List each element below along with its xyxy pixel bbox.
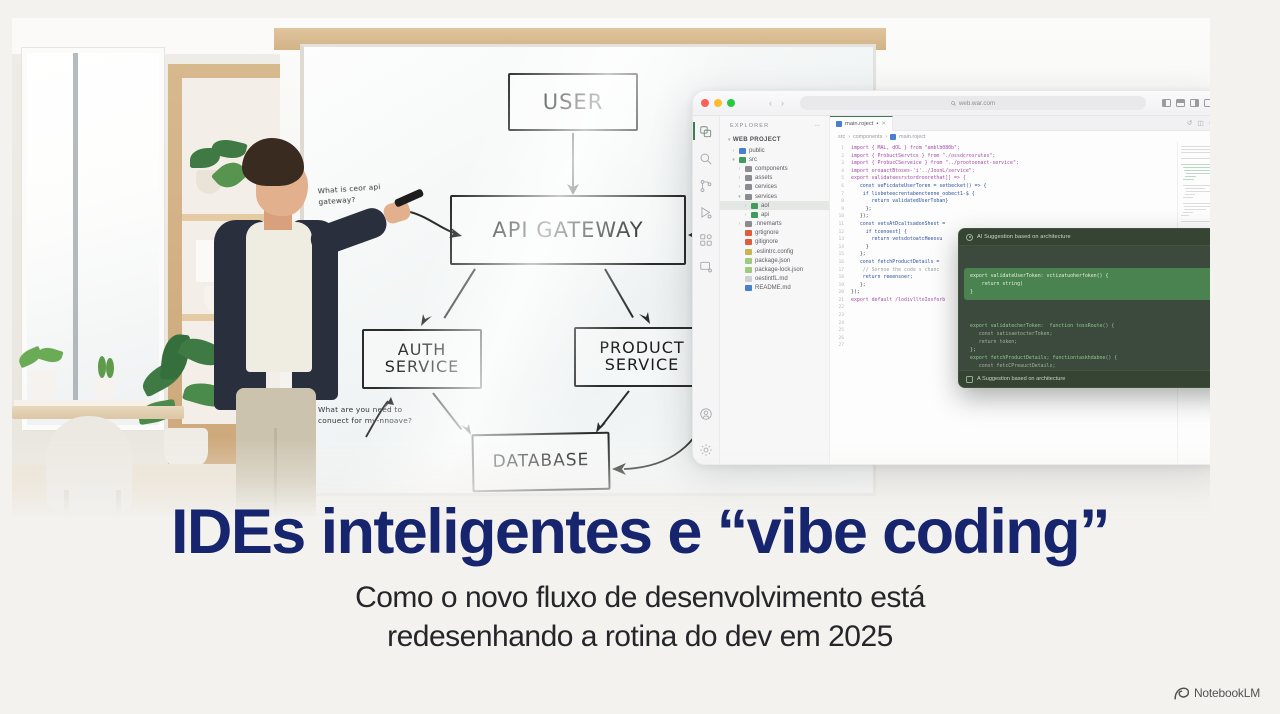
maximize-window-dot[interactable] <box>727 99 735 107</box>
minimap-line <box>1181 221 1210 222</box>
line-number: 12 <box>830 229 844 237</box>
ai-suggestion-title: AI Suggestion based on architecture <box>977 234 1071 240</box>
remote-icon[interactable] <box>699 260 713 274</box>
close-icon[interactable]: ✕ <box>881 121 886 127</box>
breadcrumb-item[interactable]: main.roject <box>899 134 925 140</box>
line-number: 19 <box>830 282 844 290</box>
line-number: 2 <box>830 153 844 161</box>
checkbox-icon[interactable] <box>966 376 973 383</box>
minimap-line <box>1183 179 1194 180</box>
file-tree-row[interactable]: ›components <box>720 164 829 173</box>
chevron-right-icon: › <box>885 134 887 140</box>
nav-arrows[interactable]: ‹ › <box>769 99 784 108</box>
close-window-dot[interactable] <box>701 99 709 107</box>
folder-icon <box>751 212 758 218</box>
file-tree-label: grtignore <box>755 230 779 236</box>
editor-tab[interactable]: main.roject • ✕ <box>830 116 893 131</box>
active-indicator <box>693 122 695 140</box>
presenter-person <box>208 138 358 518</box>
account-icon[interactable] <box>699 407 713 421</box>
line-number: 3 <box>830 160 844 168</box>
breadcrumb[interactable]: src › components › main.roject <box>830 131 1210 142</box>
line-number: 5 <box>830 175 844 183</box>
explorer-icon[interactable] <box>699 125 713 139</box>
ai-suggestion-footer-label: A Suggestion based on architecture <box>977 376 1065 382</box>
tab-label: main.roject <box>845 121 873 127</box>
folder-icon <box>745 175 752 181</box>
ai-code-line: export fetchProductDetails; functiontask… <box>970 354 1210 362</box>
line-number: 27 <box>830 342 844 350</box>
file-tree-label: oestintfL.md <box>755 276 788 282</box>
plant-leaf <box>106 358 114 378</box>
file-tree-label: .nnemarts <box>755 221 782 227</box>
minimap-line <box>1184 206 1210 207</box>
line-number: 9 <box>830 206 844 214</box>
chevron-down-icon[interactable]: ▾ <box>728 137 731 143</box>
browser-chrome: ‹ › web.war.com <box>693 91 1210 116</box>
line-number: 20 <box>830 289 844 297</box>
text-block: IDEs inteligentes e “vibe coding” Como o… <box>0 500 1280 657</box>
chevron-right-icon[interactable]: › <box>743 203 748 209</box>
line-number: 14 <box>830 244 844 252</box>
file-tree[interactable]: ›public▾src›components›assets›cervices▾s… <box>720 146 829 293</box>
minimap-line <box>1183 212 1193 213</box>
minimap-line <box>1185 194 1196 195</box>
line-number: 1 <box>830 145 844 153</box>
source-control-icon[interactable] <box>699 179 713 193</box>
minimap-line <box>1181 152 1210 153</box>
chevron-right-icon[interactable]: › <box>737 184 742 190</box>
chevron-down-icon[interactable]: ▾ <box>731 157 736 163</box>
chevron-down-icon[interactable]: ▾ <box>737 194 742 200</box>
minimap-line <box>1181 215 1189 216</box>
shirt <box>246 222 312 372</box>
file-icon <box>745 267 752 273</box>
settings-gear-icon[interactable] <box>699 443 713 457</box>
line-number: 4 <box>830 168 844 176</box>
editor-tab-tools[interactable]: ↺ ◫ ⋯ <box>1187 119 1210 127</box>
editor-tab-bar[interactable]: main.roject • ✕ ↺ ◫ ⋯ <box>830 116 1210 131</box>
line-number: 11 <box>830 221 844 229</box>
code-line: import { MAL, dOL } from "emblb080b"; <box>851 145 1177 153</box>
ai-code-line: } <box>970 288 1210 296</box>
line-number: 7 <box>830 191 844 199</box>
file-tree-label: .eslintrc.config <box>755 249 793 255</box>
file-tree-label: public <box>749 148 765 154</box>
minimap-line <box>1181 146 1210 147</box>
code-line: import { ProbucCServeice } from "../proo… <box>851 160 1177 168</box>
ai-code-line: export validateUserToken: vctizatuoherfo… <box>970 272 1210 280</box>
explorer-root-label[interactable]: ▾ WEB PROJECT <box>720 135 829 146</box>
minimap-line <box>1181 164 1210 165</box>
file-tree-label: gitignore <box>755 239 778 245</box>
file-tree-label: package.json <box>755 258 790 264</box>
split-editor-icon[interactable]: ↺ <box>1187 119 1192 127</box>
file-tree-row[interactable]: oestintfL.md <box>720 275 829 284</box>
panel-bottom-icon[interactable] <box>1176 99 1185 107</box>
file-tree-label: cervices <box>755 184 777 190</box>
panel-right-icon[interactable] <box>1190 99 1199 107</box>
file-tree-row[interactable]: package.json <box>720 256 829 265</box>
minimap-line <box>1183 197 1193 198</box>
ai-code-line: const fetcCPreauctDetails; <box>970 362 1210 370</box>
watermark-label: NotebookLM <box>1194 686 1260 700</box>
file-icon <box>745 230 752 236</box>
line-number: 17 <box>830 267 844 275</box>
chevron-right-icon: › <box>848 134 850 140</box>
ai-code-line: return string) <box>970 280 1210 288</box>
url-text: web.war.com <box>959 100 995 107</box>
file-icon <box>745 285 752 291</box>
line-number: 24 <box>830 320 844 328</box>
line-number: 13 <box>830 236 844 244</box>
file-tree-row[interactable]: ▾services <box>720 192 829 201</box>
ellipsis-icon[interactable]: ⋯ <box>814 123 821 129</box>
minimize-window-dot[interactable] <box>714 99 722 107</box>
file-tree-row[interactable]: ▾src <box>720 155 829 164</box>
code-line: if lisbeteecrentabenctenne_oobect1-$ { <box>851 191 1177 199</box>
minimap-line <box>1183 203 1210 204</box>
tab-dirty-marker: • <box>876 121 878 127</box>
notebooklm-watermark: NotebookLM <box>1174 686 1260 700</box>
file-tree-label: components <box>755 166 788 172</box>
ai-suggestion-panel[interactable]: AI Suggestion based on architecture expo… <box>958 228 1210 388</box>
line-number-gutter: 1234567891011121314151617181920212223242… <box>830 142 847 465</box>
desk-plant-pot <box>30 370 56 400</box>
ai-code-line: const satisaetocterToken; <box>970 330 1210 338</box>
line-number: 15 <box>830 251 844 259</box>
code-line: export validateesrstordroorethat]] => { <box>851 175 1177 183</box>
ai-sparkle-icon <box>966 234 973 241</box>
root-folder-name: WEB PROJECT <box>733 136 781 143</box>
back-arrow-icon[interactable]: ‹ <box>769 99 772 108</box>
file-tree-label: aol <box>761 203 769 209</box>
file-tree-row[interactable]: .eslintrc.config <box>720 247 829 256</box>
file-tree-row[interactable]: README.md <box>720 284 829 293</box>
ai-suggestion-body: export validateUserToken: vctizatuoherfo… <box>959 246 1210 388</box>
line-number: 26 <box>830 335 844 343</box>
file-tree-row[interactable]: ›.nnemarts <box>720 220 829 229</box>
minimap-line <box>1183 167 1210 168</box>
floor-plant-pot <box>164 428 208 468</box>
file-icon <box>745 249 752 255</box>
search-icon[interactable] <box>699 152 713 166</box>
subtitle-line-1: Como o novo fluxo de desenvolvimento est… <box>0 578 1280 618</box>
more-actions-icon[interactable]: ⋯ <box>1209 119 1211 127</box>
folder-icon <box>751 203 758 209</box>
breadcrumb-item[interactable]: src <box>838 134 845 140</box>
traffic-lights[interactable] <box>701 99 735 107</box>
layout-icon[interactable]: ◫ <box>1197 119 1203 127</box>
ai-code-line: return token; <box>970 338 1210 346</box>
file-tree-row[interactable]: ›public <box>720 146 829 155</box>
code-line: }; <box>851 206 1177 214</box>
page-subtitle: Como o novo fluxo de desenvolvimento est… <box>0 578 1280 658</box>
file-tree-label: api <box>761 212 769 218</box>
minimap-line <box>1186 173 1210 174</box>
line-number: 25 <box>830 327 844 335</box>
chevron-right-icon[interactable]: › <box>737 175 742 181</box>
chevron-right-icon[interactable]: › <box>737 221 742 227</box>
file-tree-row[interactable]: ›assets <box>720 174 829 183</box>
ai-suggestion-header: AI Suggestion based on architecture <box>959 229 1210 246</box>
minimap-line <box>1181 149 1210 150</box>
minimap-line <box>1185 176 1196 177</box>
file-type-icon <box>836 121 842 127</box>
line-number: 16 <box>830 259 844 267</box>
file-tree-row[interactable]: ›cervices <box>720 183 829 192</box>
ai-code-line: }; <box>970 346 1210 354</box>
chevron-right-icon[interactable]: › <box>731 148 736 154</box>
desk-plant-pot-2 <box>94 376 116 400</box>
folder-icon <box>745 194 752 200</box>
minimap-line <box>1181 158 1210 159</box>
minimap-line <box>1185 188 1206 189</box>
file-tree-row[interactable]: grtignore <box>720 229 829 238</box>
minimap-line <box>1184 209 1206 210</box>
file-icon <box>745 258 752 264</box>
split-icon[interactable] <box>1204 99 1210 107</box>
subtitle-line-2: redesenhando a rotina do dev em 2025 <box>0 617 1280 657</box>
chevron-right-icon[interactable]: › <box>737 166 742 172</box>
search-icon <box>951 101 956 106</box>
code-line: }); <box>851 213 1177 221</box>
explorer-panel[interactable]: EXPLORER ⋯ ▾ WEB PROJECT ›public▾src›com… <box>720 116 830 465</box>
file-tree-label: assets <box>755 175 772 181</box>
file-tree-label: README.md <box>755 285 791 291</box>
file-type-icon <box>890 134 896 140</box>
line-number: 8 <box>830 198 844 206</box>
minimap-line <box>1183 185 1210 186</box>
run-debug-icon[interactable] <box>699 206 713 220</box>
address-bar[interactable]: web.war.com <box>800 96 1146 110</box>
line-number: 21 <box>830 297 844 305</box>
folder-icon <box>745 166 752 172</box>
slide-canvas: USER API GATEWAY AUTH SERVICE PRODUCT SE… <box>0 0 1280 714</box>
panel-left-icon[interactable] <box>1162 99 1171 107</box>
window-layout-icons[interactable] <box>1162 99 1210 107</box>
code-line: import { ProbuctServtcs } from "./ossdcr… <box>851 153 1177 161</box>
window-mullion <box>73 53 78 425</box>
forward-arrow-icon[interactable]: › <box>781 99 784 108</box>
file-tree-row[interactable]: ›aol <box>720 201 829 210</box>
ai-suggestion-footer[interactable]: A Suggestion based on architecture <box>959 370 1210 387</box>
activity-bar[interactable] <box>693 116 720 465</box>
explorer-header: EXPLORER ⋯ <box>720 123 829 135</box>
file-tree-row[interactable]: package-lock.json <box>720 265 829 274</box>
file-tree-label: package-lock.json <box>755 267 803 273</box>
file-icon <box>745 239 752 245</box>
line-number: 6 <box>830 183 844 191</box>
plant-leaf <box>98 356 106 378</box>
page-title: IDEs inteligentes e “vibe coding” <box>0 500 1280 566</box>
folder-icon <box>745 221 752 227</box>
line-number: 22 <box>830 304 844 312</box>
minimap-line <box>1186 191 1210 192</box>
code-line: return validatedUserToban} <box>851 198 1177 206</box>
notebooklm-icon <box>1174 687 1189 700</box>
minimap-line <box>1184 170 1210 171</box>
file-tree-row[interactable]: ›api <box>720 210 829 219</box>
line-number: 10 <box>830 213 844 221</box>
line-number: 23 <box>830 312 844 320</box>
extensions-icon[interactable] <box>699 233 713 247</box>
breadcrumb-item[interactable]: components <box>853 134 882 140</box>
folder-icon <box>739 148 746 154</box>
folder-icon <box>739 157 746 163</box>
file-icon <box>745 276 752 282</box>
file-tree-label: services <box>755 194 777 200</box>
code-line: const veFicdateUserToren = setbecket() =… <box>851 183 1177 191</box>
ai-suggestion-title-group: AI Suggestion based on architecture <box>966 234 1071 241</box>
file-tree-row[interactable]: gitignore <box>720 238 829 247</box>
line-number: 18 <box>830 274 844 282</box>
ai-suggestion-highlight-code[interactable]: export validateUserToken: vctizatuoherfo… <box>964 268 1210 300</box>
folder-icon <box>745 184 752 190</box>
explorer-title: EXPLORER <box>730 123 769 129</box>
hero-photo: USER API GATEWAY AUTH SERVICE PRODUCT SE… <box>12 18 1210 518</box>
code-line: import oroaactBtoses-'i'../JoonL/service… <box>851 168 1177 176</box>
file-tree-label: src <box>749 157 757 163</box>
hair <box>242 138 304 186</box>
ai-code-line: export validatecherToken: function tossR… <box>970 322 1210 330</box>
chevron-right-icon[interactable]: › <box>743 212 748 218</box>
